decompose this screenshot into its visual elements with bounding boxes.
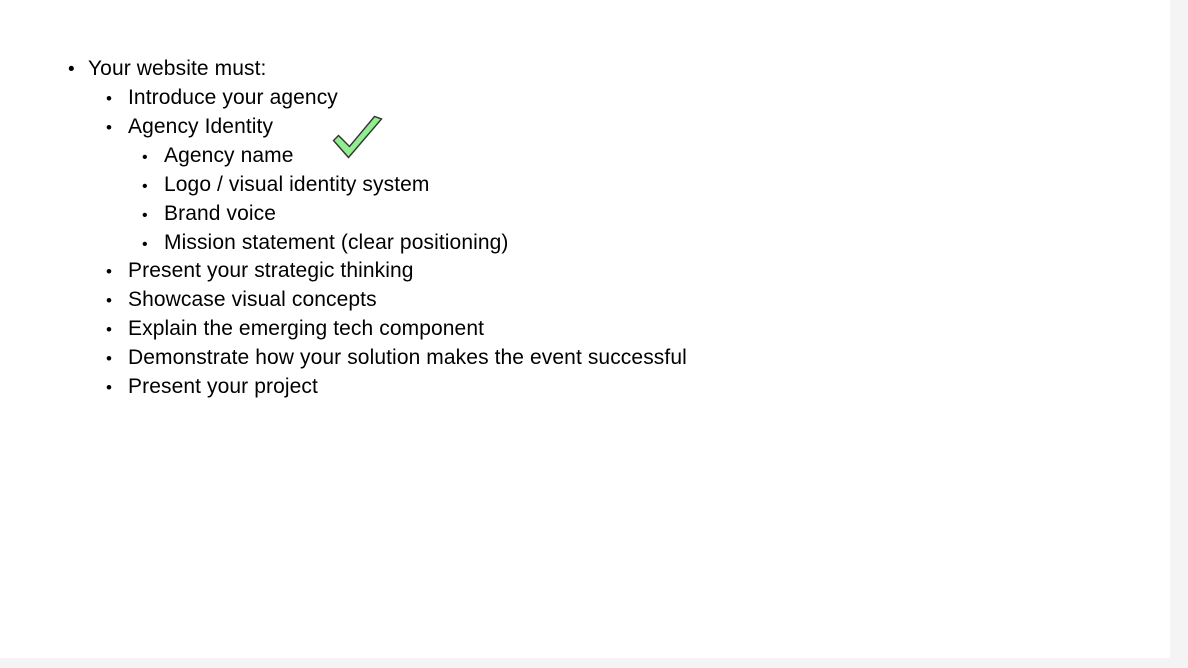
list-item: •Brand voice: [142, 199, 276, 230]
list-item-label: Introduce your agency: [128, 83, 338, 112]
list-item-label: Present your strategic thinking: [128, 256, 414, 285]
bullet-dot-icon: •: [142, 230, 164, 259]
list-item: •Agency name: [142, 141, 294, 172]
slide-canvas: •Your website must:•Introduce your agenc…: [0, 0, 1170, 658]
bullet-dot-icon: •: [142, 201, 164, 230]
bullet-dot-icon: •: [106, 315, 128, 344]
bullet-dot-icon: •: [142, 172, 164, 201]
list-item-label: Mission statement (clear positioning): [164, 228, 509, 257]
bullet-dot-icon: •: [106, 286, 128, 315]
list-item-label: Your website must:: [88, 54, 266, 83]
bullet-dot-icon: •: [106, 113, 128, 142]
list-item: •Your website must:: [68, 54, 266, 84]
list-item: •Demonstrate how your solution makes the…: [106, 343, 687, 373]
list-item-label: Logo / visual identity system: [164, 170, 430, 199]
list-item: •Present your project: [106, 372, 318, 402]
list-item: •Introduce your agency: [106, 83, 338, 113]
list-item: •Showcase visual concepts: [106, 285, 377, 315]
bullet-dot-icon: •: [106, 344, 128, 373]
list-item: •Present your strategic thinking: [106, 256, 414, 286]
list-item-label: Brand voice: [164, 199, 276, 228]
list-item: •Explain the emerging tech component: [106, 314, 484, 344]
bullet-dot-icon: •: [142, 143, 164, 172]
list-item: •Agency Identity: [106, 112, 273, 142]
list-item-label: Demonstrate how your solution makes the …: [128, 343, 687, 372]
bullet-dot-icon: •: [106, 84, 128, 113]
list-item-label: Agency Identity: [128, 112, 273, 141]
list-item-label: Present your project: [128, 372, 318, 401]
bullet-dot-icon: •: [106, 373, 128, 402]
bullet-list: •Your website must:•Introduce your agenc…: [0, 0, 1170, 658]
bullet-dot-icon: •: [68, 55, 88, 84]
list-item-label: Explain the emerging tech component: [128, 314, 484, 343]
list-item-label: Agency name: [164, 141, 294, 170]
list-item: •Mission statement (clear positioning): [142, 228, 509, 259]
list-item-label: Showcase visual concepts: [128, 285, 377, 314]
list-item: •Logo / visual identity system: [142, 170, 430, 201]
bullet-dot-icon: •: [106, 257, 128, 286]
